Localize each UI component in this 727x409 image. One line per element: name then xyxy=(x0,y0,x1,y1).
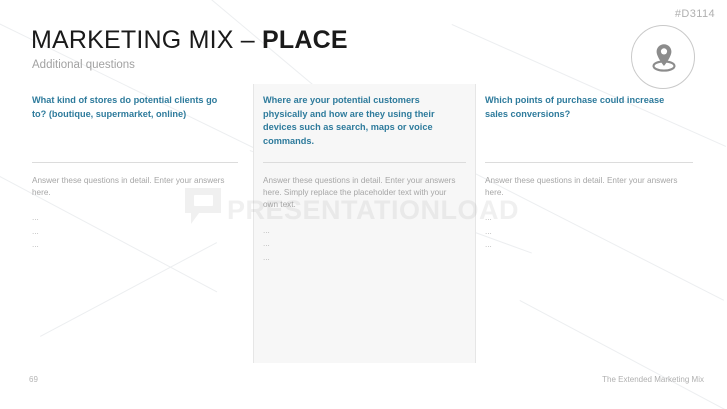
placeholder-line[interactable]: ... xyxy=(32,238,232,252)
question-column-3: Which points of purchase could increase … xyxy=(477,84,701,252)
placeholder-line[interactable]: ... xyxy=(263,251,462,265)
placeholder-line[interactable]: ... xyxy=(485,238,693,252)
column-3-placeholders: ... ... ... xyxy=(485,211,693,252)
page-subtitle: Additional questions xyxy=(32,59,135,71)
slide-code-id: #D3114 xyxy=(675,8,715,20)
placeholder-line[interactable]: ... xyxy=(263,237,462,251)
page-title-emphasis: PLACE xyxy=(262,26,348,54)
placeholder-line[interactable]: ... xyxy=(263,224,462,238)
column-1-body-text: Answer these questions in detail. Enter … xyxy=(32,175,232,199)
column-1-body[interactable]: Answer these questions in detail. Enter … xyxy=(24,163,246,252)
map-pin-icon-badge xyxy=(631,25,695,89)
column-2-body-text: Answer these questions in detail. Enter … xyxy=(263,175,462,212)
column-1-placeholders: ... ... ... xyxy=(32,211,232,252)
footer-section-label: The Extended Marketing Mix xyxy=(602,375,704,384)
slide-canvas: MARKETING MIX – PLACE Additional questio… xyxy=(0,0,727,409)
question-column-2: Where are your potential customers physi… xyxy=(253,84,476,264)
column-2-heading: Where are your potential customers physi… xyxy=(253,84,476,162)
placeholder-line[interactable]: ... xyxy=(485,211,693,225)
decorative-line xyxy=(40,242,217,337)
column-3-body-text: Answer these questions in detail. Enter … xyxy=(485,175,693,199)
column-3-body[interactable]: Answer these questions in detail. Enter … xyxy=(477,163,701,252)
column-3-heading: Which points of purchase could increase … xyxy=(477,84,701,162)
column-2-placeholders: ... ... ... xyxy=(263,224,462,265)
placeholder-line[interactable]: ... xyxy=(32,225,232,239)
map-pin-icon xyxy=(649,41,679,73)
decorative-line xyxy=(520,300,727,409)
page-title-main: MARKETING MIX – xyxy=(31,26,262,54)
placeholder-line[interactable]: ... xyxy=(32,211,232,225)
question-column-1: What kind of stores do potential clients… xyxy=(24,84,246,252)
page-number: 69 xyxy=(29,375,38,384)
column-2-body[interactable]: Answer these questions in detail. Enter … xyxy=(253,163,476,264)
placeholder-line[interactable]: ... xyxy=(485,225,693,239)
column-1-heading: What kind of stores do potential clients… xyxy=(24,84,246,162)
page-title: MARKETING MIX – PLACE xyxy=(31,26,348,55)
